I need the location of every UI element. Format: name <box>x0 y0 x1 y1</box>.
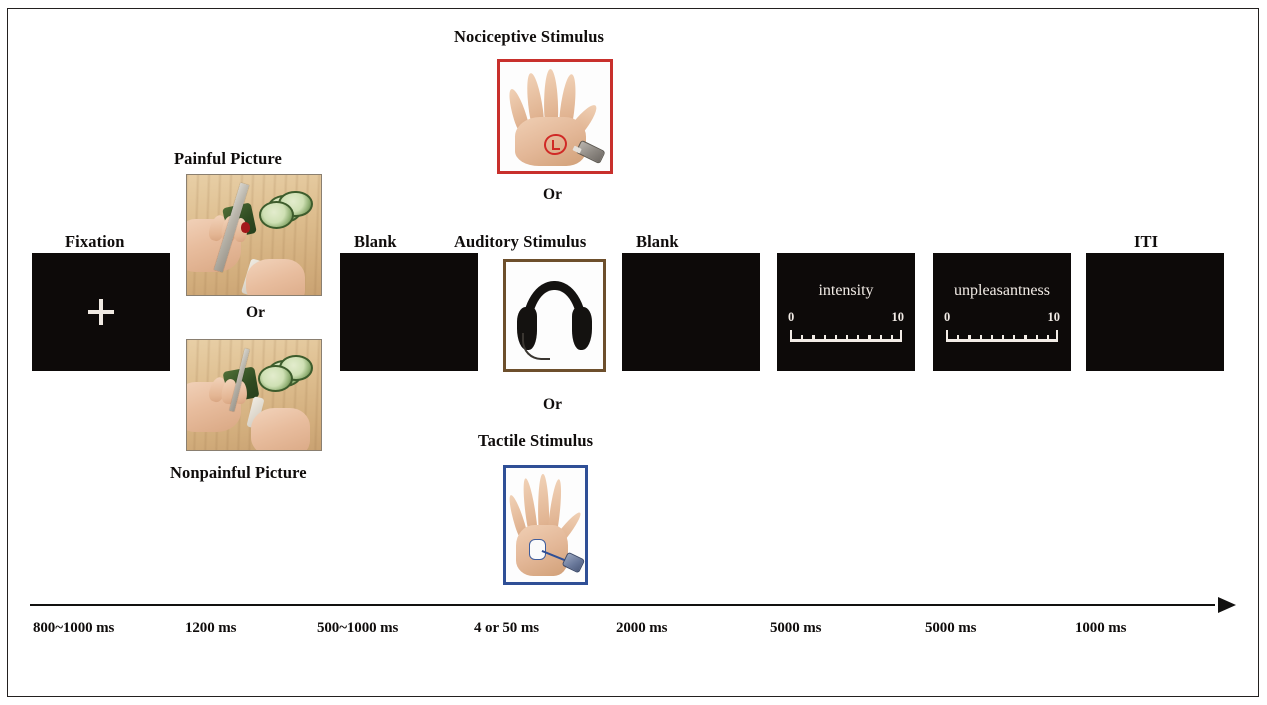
scale-tick <box>1056 330 1058 342</box>
scale-tick <box>946 330 948 342</box>
fixation-cross-icon <box>88 299 114 325</box>
label-nociceptive-stimulus: Nociceptive Stimulus <box>454 29 604 46</box>
scale-tick <box>968 335 970 342</box>
duration-intensity: 5000 ms <box>770 621 821 636</box>
duration-iti: 1000 ms <box>1075 621 1126 636</box>
scale-tick <box>868 335 870 342</box>
label-fixation: Fixation <box>65 234 124 251</box>
unpleasantness-rating-panel[interactable]: unpleasantness 0 10 <box>933 253 1071 371</box>
duration-unpleasantness: 5000 ms <box>925 621 976 636</box>
blank-panel-1 <box>340 253 478 371</box>
fixation-panel <box>32 253 170 371</box>
unpleasantness-scale-ruler[interactable] <box>946 329 1058 342</box>
label-auditory-stimulus: Auditory Stimulus <box>454 234 586 251</box>
scale-tick <box>957 335 959 342</box>
connector-or-pictures: Or <box>246 305 265 321</box>
unpleasantness-scale-min: 0 <box>944 311 950 324</box>
blood-spot <box>241 222 250 233</box>
label-painful-picture: Painful Picture <box>174 151 282 168</box>
scale-tick <box>980 335 982 342</box>
headphone-cord <box>522 333 549 361</box>
timeline-arrowhead-icon <box>1218 597 1236 613</box>
scale-tick <box>835 335 837 342</box>
right-hand <box>251 408 310 451</box>
iti-panel <box>1086 253 1224 371</box>
scale-tick <box>900 330 902 342</box>
scale-tick <box>1047 335 1049 342</box>
intensity-scale-ruler[interactable] <box>790 329 902 342</box>
painful-picture-image <box>186 174 322 296</box>
scale-tick <box>846 335 848 342</box>
label-blank-2: Blank <box>636 234 679 251</box>
scale-tick <box>857 335 859 342</box>
scale-tick <box>1013 335 1015 342</box>
scale-tick <box>812 335 814 342</box>
label-tactile-stimulus: Tactile Stimulus <box>478 433 593 450</box>
tactile-stimulus-image <box>503 465 588 585</box>
duration-stimulus: 4 or 50 ms <box>474 621 539 636</box>
duration-fixation: 800~1000 ms <box>33 621 114 636</box>
auditory-stimulus-image <box>503 259 606 372</box>
blank-panel-2 <box>622 253 760 371</box>
nonpainful-picture-image <box>186 339 322 451</box>
timeline-line <box>30 604 1215 606</box>
duration-picture: 1200 ms <box>185 621 236 636</box>
label-nonpainful-picture: Nonpainful Picture <box>170 465 307 482</box>
scale-tick <box>880 335 882 342</box>
intensity-scale-min: 0 <box>788 311 794 324</box>
tactile-electrode-patch <box>529 539 546 560</box>
label-blank-1: Blank <box>354 234 397 251</box>
scale-tick <box>790 330 792 342</box>
headphone-cup-right <box>572 307 592 350</box>
connector-or-auditory-tactile: Or <box>543 397 562 413</box>
scale-tick <box>1024 335 1026 342</box>
duration-blank-1: 500~1000 ms <box>317 621 398 636</box>
scale-tick <box>824 335 826 342</box>
scale-tick <box>891 335 893 342</box>
duration-blank-2: 2000 ms <box>616 621 667 636</box>
right-hand <box>246 259 305 296</box>
scale-tick <box>1036 335 1038 342</box>
unpleasantness-scale-max: 10 <box>1048 311 1061 324</box>
intensity-scale-max: 10 <box>892 311 905 324</box>
label-iti: ITI <box>1134 234 1158 251</box>
intensity-rating-panel[interactable]: intensity 0 10 <box>777 253 915 371</box>
unpleasantness-scale-title: unpleasantness <box>933 283 1071 299</box>
connector-or-noci-auditory: Or <box>543 187 562 203</box>
timeline-axis <box>30 601 1236 615</box>
scale-tick <box>1002 335 1004 342</box>
scale-tick <box>991 335 993 342</box>
intensity-scale-title: intensity <box>777 283 915 299</box>
figure-frame: Nociceptive Stimulus Or Fixation Painful… <box>7 8 1259 697</box>
nociceptive-stimulus-image <box>497 59 613 174</box>
scale-tick <box>801 335 803 342</box>
